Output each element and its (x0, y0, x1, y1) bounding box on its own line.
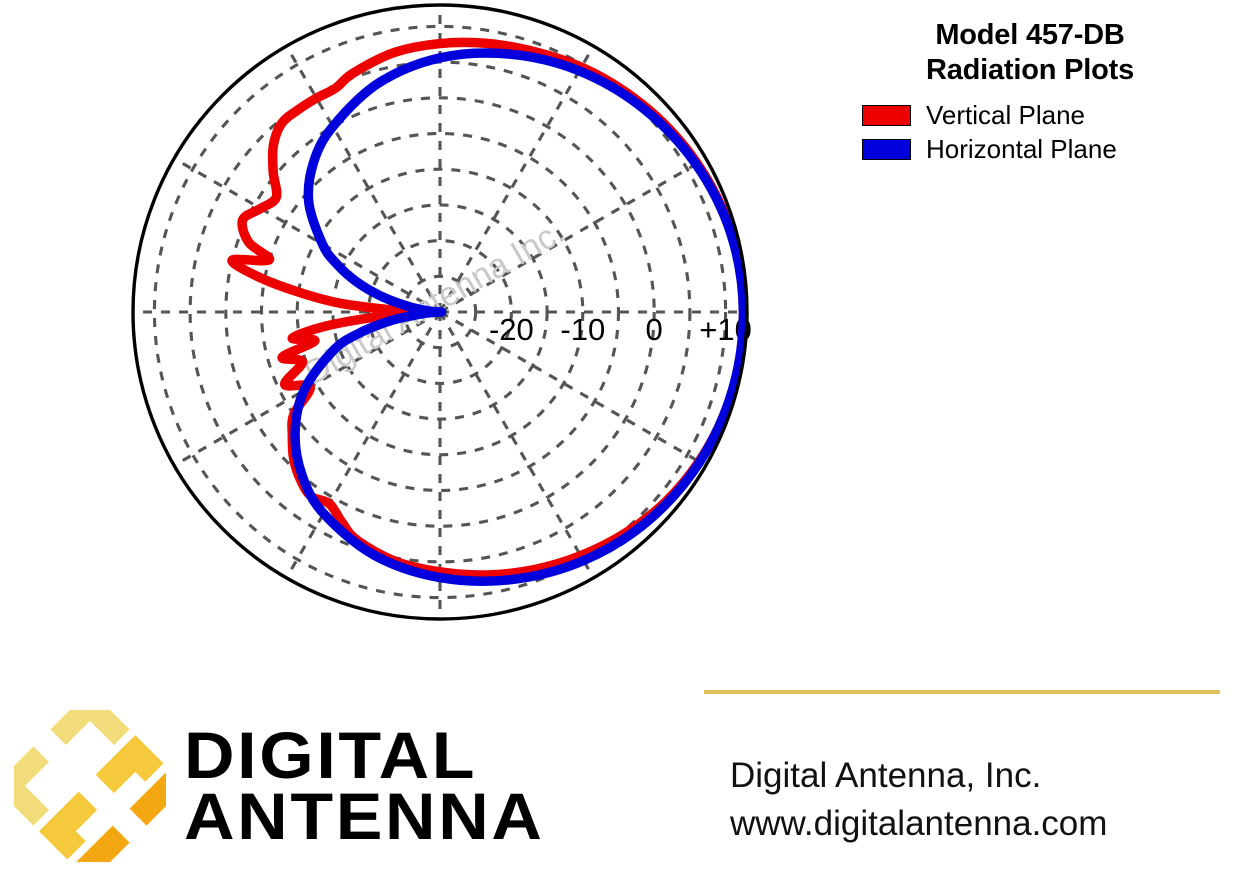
radial-tick--10: -10 (560, 312, 605, 347)
grid-spoke (440, 312, 594, 578)
radial-tick--20: -20 (489, 312, 534, 347)
logo-wordmark: DIGITAL ANTENNA (184, 725, 524, 846)
legend-item-horizontal-plane: Horizontal Plane (862, 134, 1117, 165)
page-title-line2: Radiation Plots (840, 53, 1220, 88)
logo-word-antenna: ANTENNA (184, 786, 545, 847)
company-info: Digital Antenna, Inc. www.digitalantenna… (704, 690, 1220, 849)
page-title-line1: Model 457-DB (840, 18, 1220, 53)
polar-chart: Digital Antenna Inc. -20-100+10 (0, 0, 800, 640)
company-website[interactable]: www.digitalantenna.com (704, 800, 1220, 848)
polar-chart-svg: Digital Antenna Inc. -20-100+10 (0, 0, 800, 640)
legend-label-horizontal-plane: Horizontal Plane (926, 134, 1117, 165)
legend-item-vertical-plane: Vertical Plane (862, 100, 1085, 131)
brand-logo: DIGITAL ANTENNA (14, 706, 614, 866)
legend-label-vertical-plane: Vertical Plane (926, 100, 1085, 131)
blue-swatch-icon (862, 139, 911, 160)
company-name: Digital Antenna, Inc. (704, 752, 1220, 800)
logo-word-digital: DIGITAL (184, 725, 545, 786)
radial-tick-0: 0 (646, 312, 663, 347)
red-swatch-icon (862, 105, 911, 126)
digital-antenna-diamond-icon (14, 710, 166, 862)
footer-divider (704, 690, 1220, 694)
radiation-plot-page: Digital Antenna Inc. -20-100+10 Model 45… (0, 0, 1234, 878)
legend-items: Vertical Plane Horizontal Plane (840, 100, 1220, 165)
radial-tick-labels: -20-100+10 (489, 312, 752, 347)
chart-legend-block: Model 457-DB Radiation Plots Vertical Pl… (840, 18, 1220, 165)
